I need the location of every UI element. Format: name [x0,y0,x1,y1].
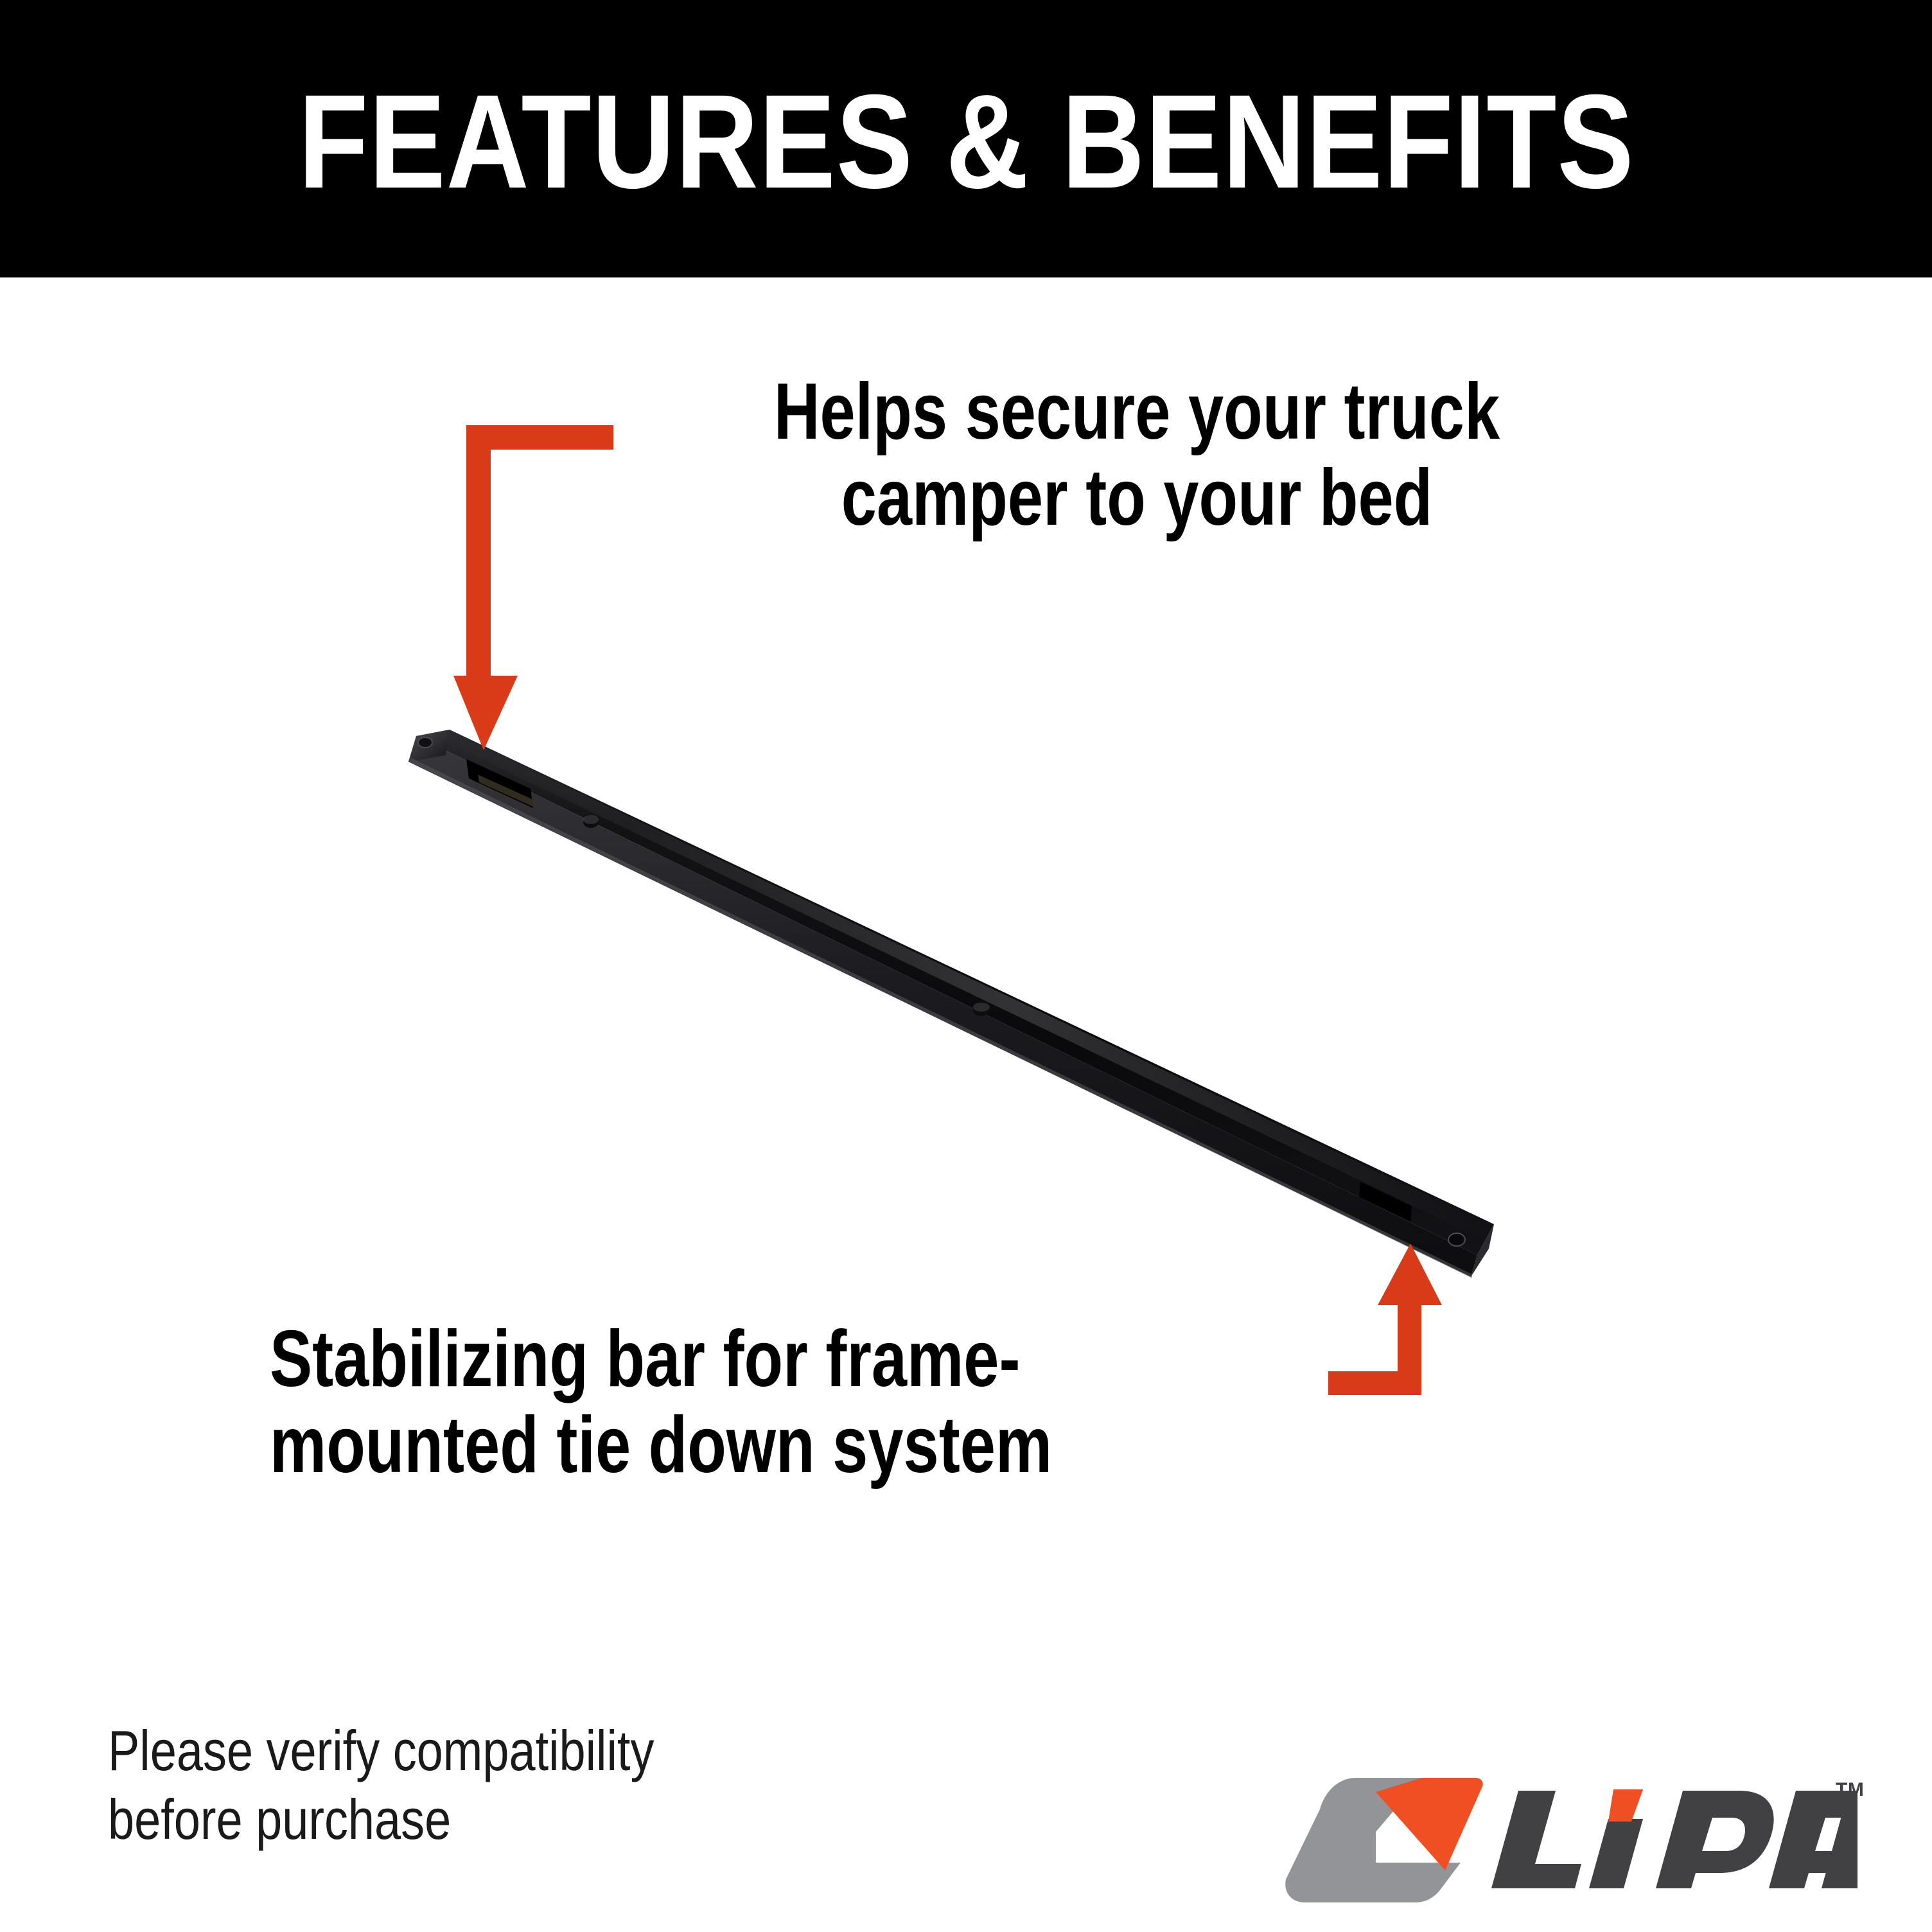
product-image [0,0,1932,1932]
product-slot-left [466,759,533,808]
product-slot-right [1359,1182,1412,1222]
product-bar-body [408,730,1494,1278]
callout-arrows [0,0,1932,1932]
callout-line: mounted tie down system [270,1403,1174,1489]
callout-line: camper to your bed [721,455,1553,541]
disclaimer-line: before purchase [108,1785,654,1854]
product-holes [418,737,1465,1246]
trademark-symbol: TM [1836,1779,1864,1801]
disclaimer-text: Please verify compatibility before purch… [108,1716,758,1854]
callout-helps-secure: Helps secure your truck camper to your b… [617,369,1657,541]
lippert-wordmark-ert [1279,1774,1857,1909]
page-title: FEATURES & BENEFITS [298,75,1634,209]
callout-arrow-down-icon [453,425,613,750]
callout-line: Helps secure your truck [721,369,1553,455]
disclaimer-line: Please verify compatibility [108,1716,654,1785]
infographic-canvas: FEATURES & BENEFITS [0,0,1932,1932]
header-bar: FEATURES & BENEFITS [0,0,1932,277]
callout-line: Stabilizing bar for frame- [270,1317,1174,1403]
callout-stabilizing-bar: Stabilizing bar for frame- mounted tie d… [270,1317,1400,1489]
lippert-logo: TM [1279,1774,1857,1909]
